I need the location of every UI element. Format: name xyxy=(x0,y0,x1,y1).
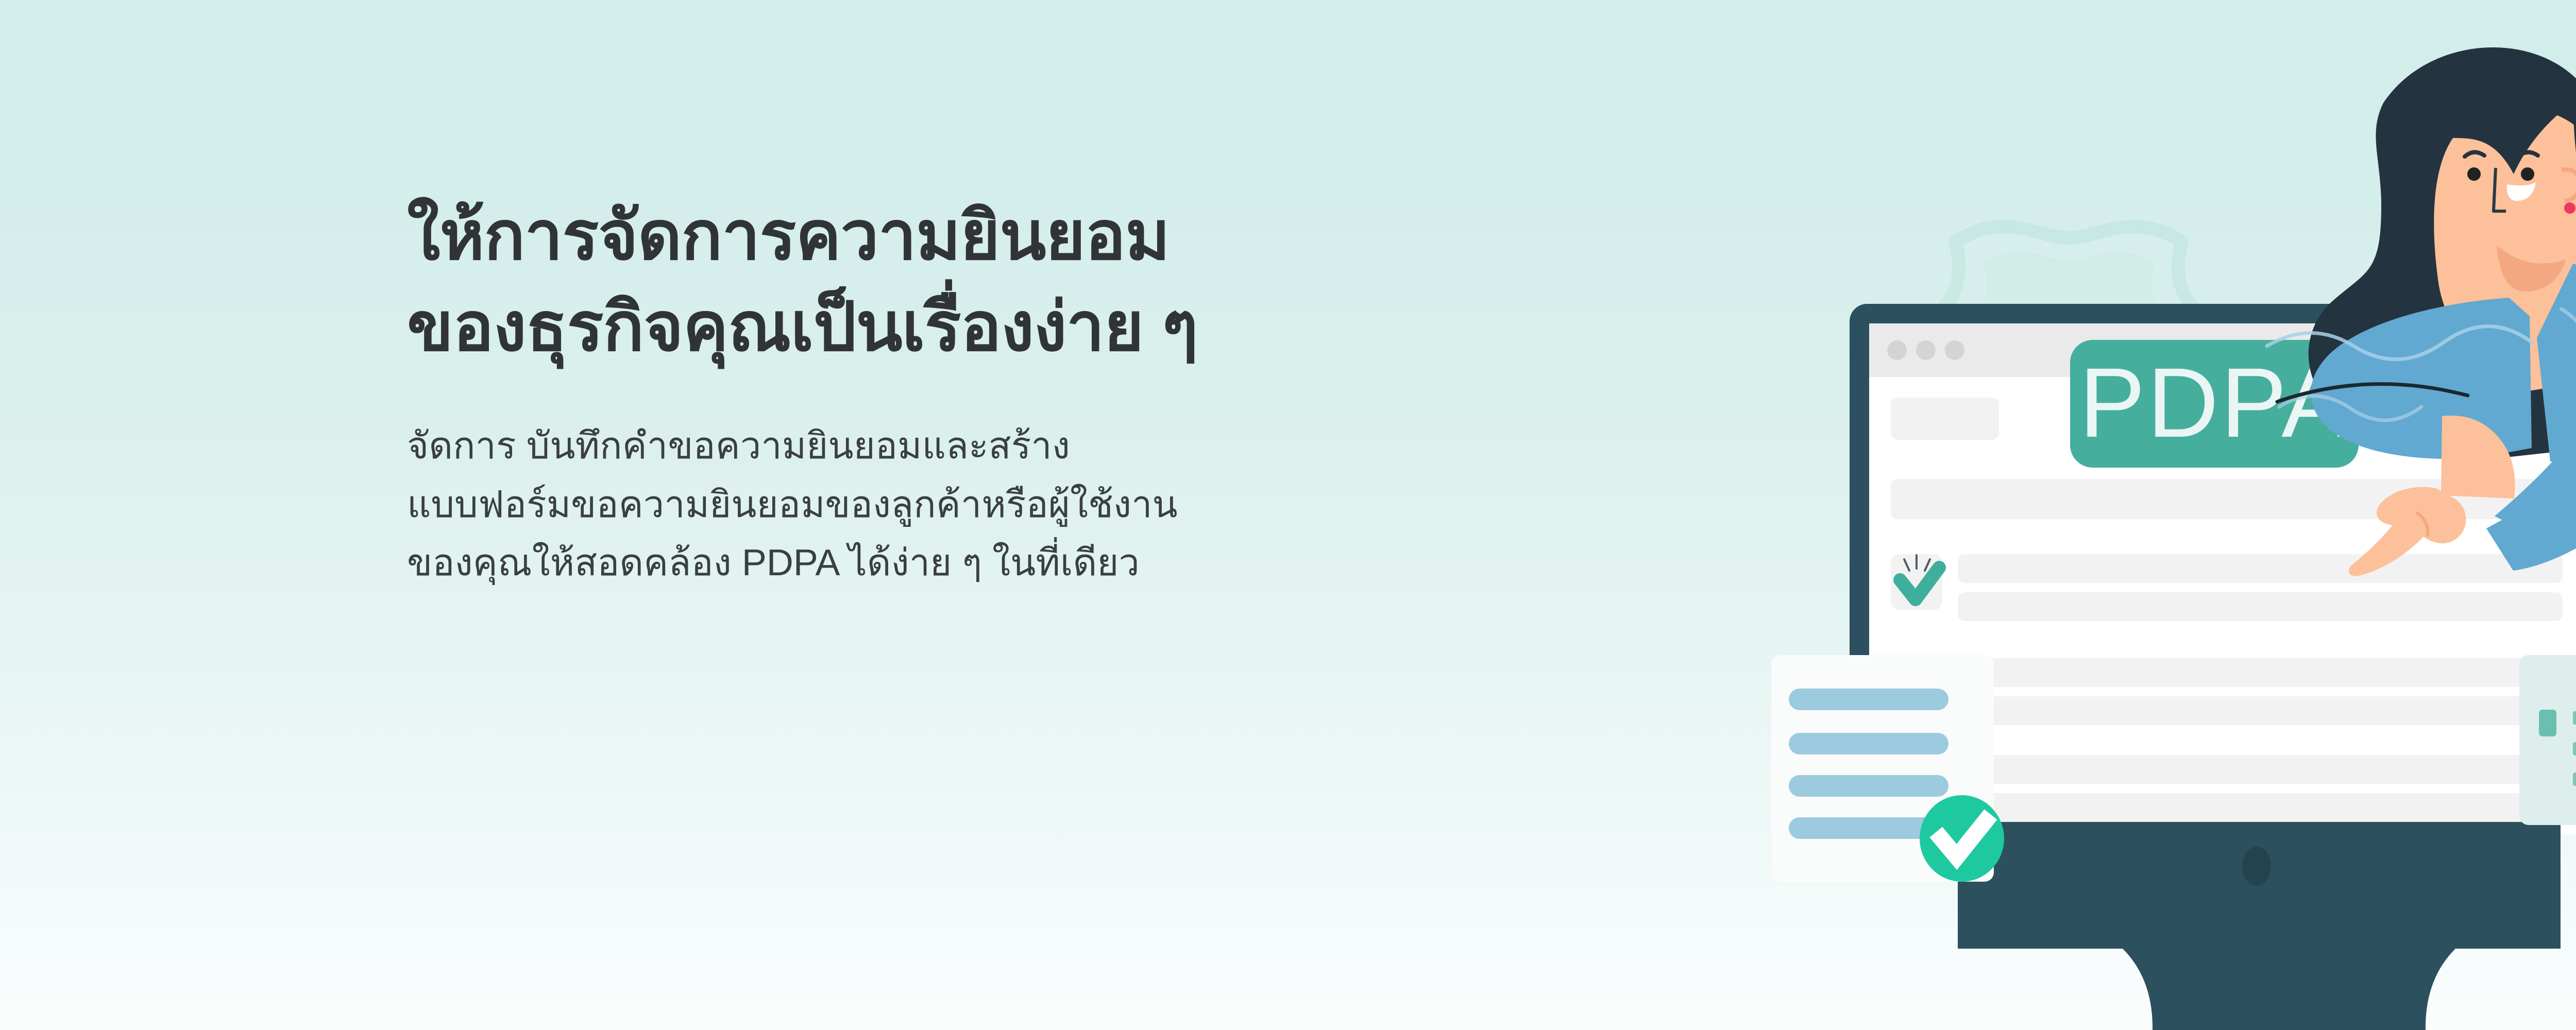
pdpa-hero-banner: ให้การจัดการความยินยอม ของธุรกิจคุณเป็นเ… xyxy=(0,0,2576,1030)
monitor-stand xyxy=(2123,949,2455,1030)
eye-right xyxy=(2521,167,2534,181)
body-line-1: จัดการ บันทึกคำขอความยินยอมและสร้าง xyxy=(407,417,1643,476)
chrome-dot-3 xyxy=(1945,340,1964,360)
earring xyxy=(2564,202,2575,214)
right-card-bar-2 xyxy=(2573,742,2576,756)
body-line-2: แบบฟอร์มขอความยินยอมของลูกค้าหรือผู้ใช้ง… xyxy=(407,476,1643,535)
left-card-bar-2 xyxy=(1789,733,1948,754)
right-card-bar-3 xyxy=(2573,772,2576,786)
hero-copy-block: ให้การจัดการความยินยอม ของธุรกิจคุณเป็นเ… xyxy=(407,191,1643,593)
hero-illustration: PDPA xyxy=(1741,0,2576,1030)
body-line-3: ของคุณให้สอดคล้อง PDPA ได้ง่าย ๆ ในที่เด… xyxy=(407,534,1643,593)
screen-field-lower-2 xyxy=(1958,793,2563,822)
monitor-power-button xyxy=(2242,847,2271,886)
chrome-dot-1 xyxy=(1887,340,1907,360)
success-check-badge xyxy=(1920,795,2004,882)
left-card-bar-1 xyxy=(1789,689,1948,710)
screen-field-lower-1 xyxy=(1958,755,2563,784)
right-card-bar-1 xyxy=(2573,711,2576,725)
screen-chip-1 xyxy=(1891,398,1999,440)
right-info-card xyxy=(2519,655,2576,825)
headline-line-1: ให้การจัดการความยินยอม xyxy=(407,191,1643,282)
headline-line-2: ของธุรกิจคุณเป็นเรื่องง่าย ๆ xyxy=(407,282,1643,373)
chrome-dot-2 xyxy=(1916,340,1936,360)
body-copy: จัดการ บันทึกคำขอความยินยอมและสร้าง แบบฟ… xyxy=(407,417,1643,593)
pdpa-badge-label: PDPA xyxy=(2079,347,2350,458)
eye-left xyxy=(2467,167,2481,181)
right-card-swatch xyxy=(2539,710,2556,736)
left-card-bar-3 xyxy=(1789,775,1948,797)
